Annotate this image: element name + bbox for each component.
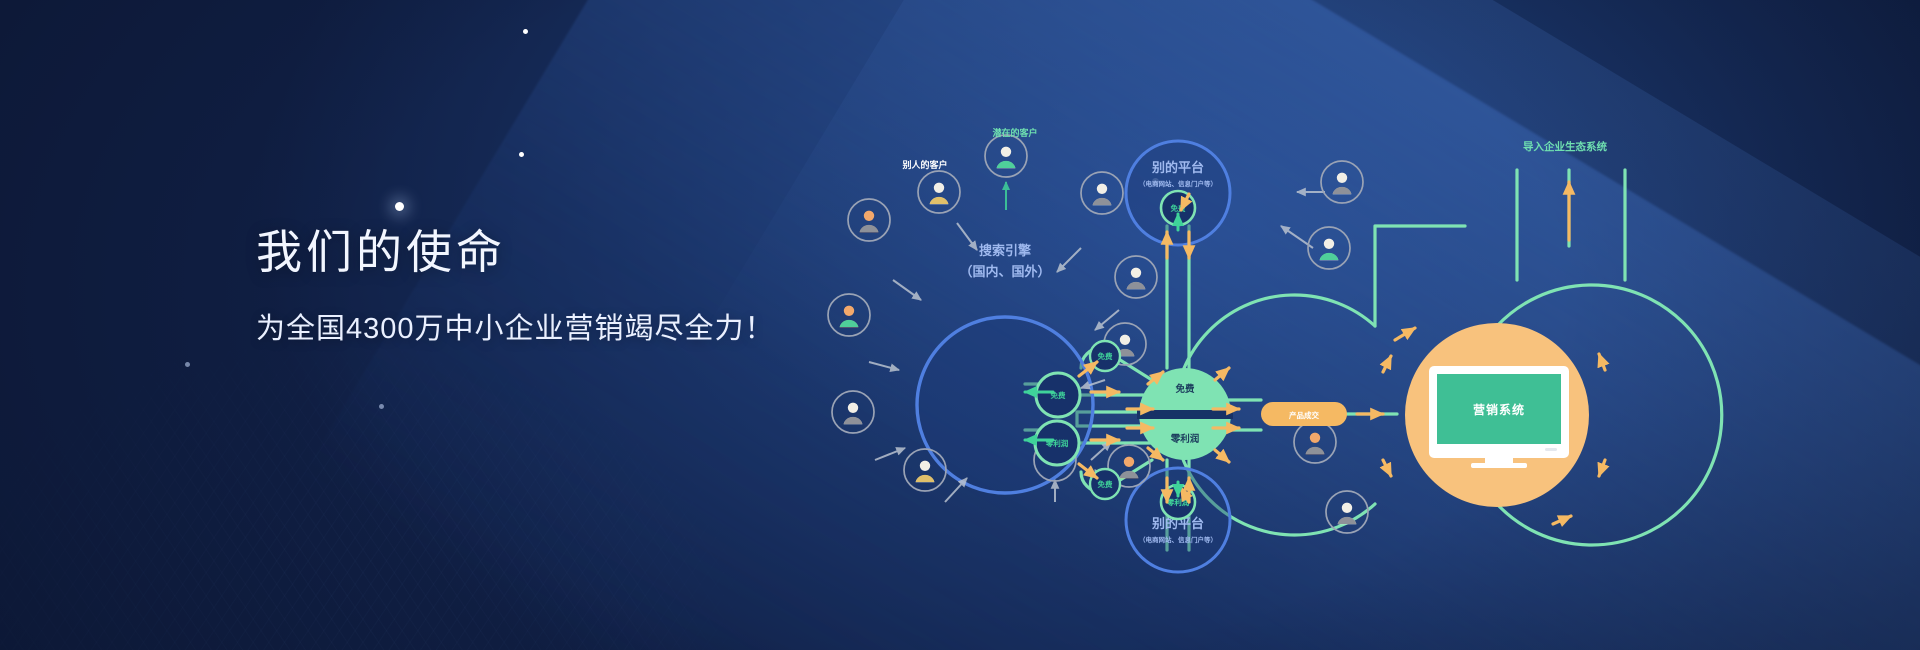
label-import-ecosystem: 导入企业生态系统 (1523, 140, 1607, 153)
platform-top-title: 别的平台 (1151, 160, 1204, 175)
label-others-customers: 别人的客户 (901, 159, 947, 170)
platform-top-subtitle: （电商网站、信息门户等） (1139, 179, 1217, 188)
marketing-system-label: 营销系统 (1473, 402, 1525, 417)
platform-bottom-subtitle: （电商网站、信息门户等） (1139, 535, 1217, 544)
flow-node-free-branch-lower: 免费 (1090, 469, 1120, 499)
page-title: 我们的使命 (256, 225, 775, 280)
hub-bottom-label: 零利润 (1170, 433, 1200, 445)
flow-label-free-branch-lower: 免费 (1098, 479, 1114, 489)
particle-dot (185, 362, 190, 367)
label-potential-customers: 潜在的客户 (992, 127, 1037, 138)
particle-dot (379, 404, 384, 409)
particle-dot (519, 152, 524, 157)
flow-label-free-branch-upper: 免费 (1098, 351, 1114, 361)
deal-pill: 产品成交 (1261, 402, 1347, 426)
flow-node-zero-profit: 零利润 (1035, 421, 1079, 465)
particle-dot (395, 202, 404, 211)
marketing-ecosystem-diagram: 搜索引擎 （国内、国外） 别的平台 （电商网站、信息门户等） 别的平台 （电商网… (905, 130, 1915, 550)
hero-banner: 我们的使命 为全国4300万中小企业营销竭尽全力！ (0, 0, 1920, 650)
flow-node-free-upper: 免费 (1036, 373, 1080, 417)
deal-pill-label: 产品成交 (1289, 410, 1319, 420)
hub-top-label: 免费 (1175, 383, 1195, 395)
search-engine-title: 搜索引擎 (979, 243, 1031, 258)
hero-copy: 我们的使命 为全国4300万中小企业营销竭尽全力！ (256, 225, 775, 349)
marketing-system-node: 营销系统 (1405, 323, 1589, 507)
search-engine-subtitle: （国内、国外） (959, 264, 1050, 279)
page-subtitle: 为全国4300万中小企业营销竭尽全力！ (256, 310, 775, 349)
particle-dot (523, 29, 528, 34)
flow-node-free-branch-upper: 免费 (1090, 341, 1120, 371)
